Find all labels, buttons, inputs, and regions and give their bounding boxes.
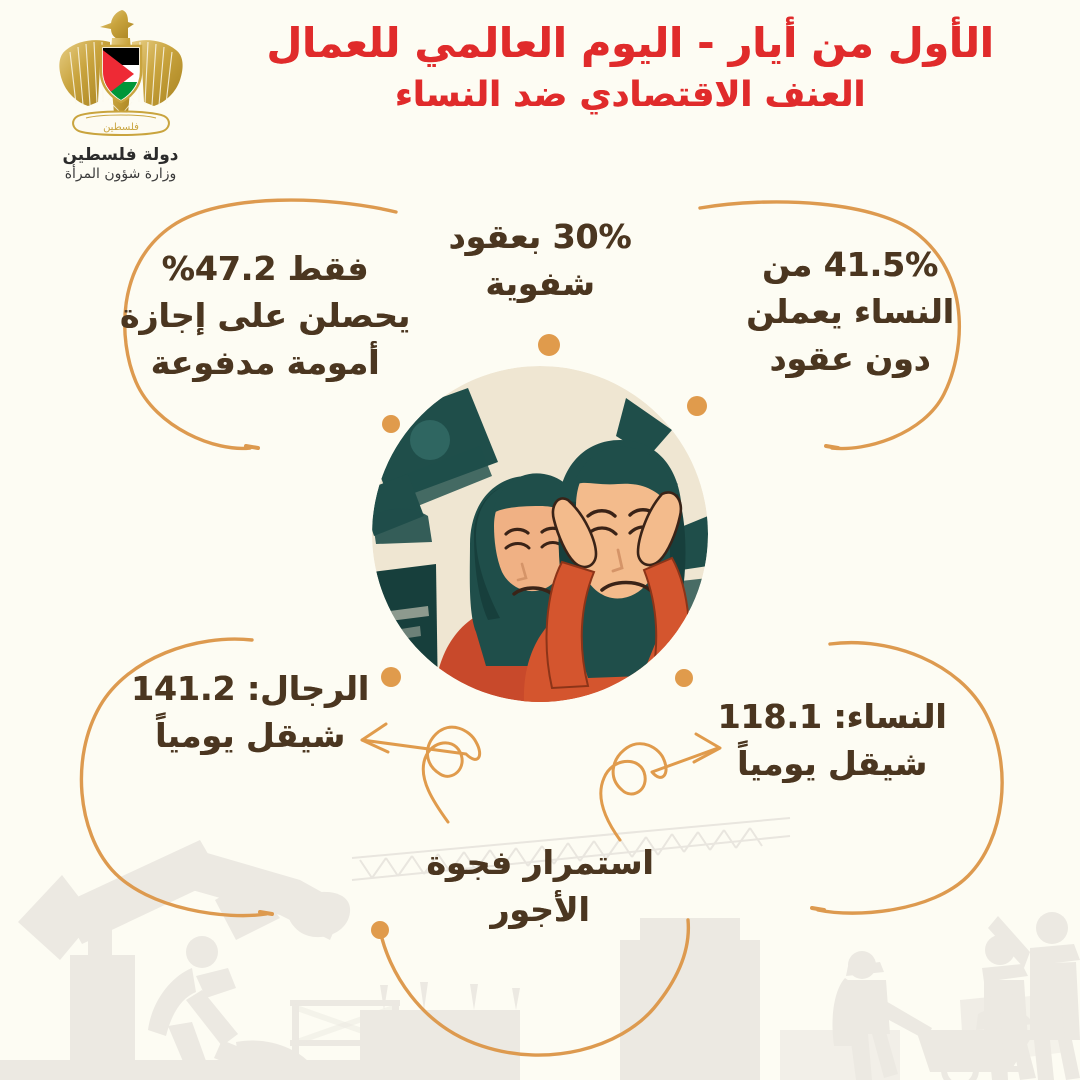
stat-no-contracts: 41.5% من النساء يعملن دون عقود — [700, 242, 1000, 383]
stat-wage-gap: استمرار فجوة الأجور — [390, 840, 690, 934]
palestine-eagle-emblem-icon: فلسطين — [56, 6, 186, 142]
stat-oral-contracts: 30% بعقود شفوية — [395, 214, 685, 308]
stat-women-daily-wage: النساء: 118.1 شيقل يومياً — [682, 694, 982, 788]
stat-paid-maternity-leave: فقط 47.2% يحصلن على إجازة أمومة مدفوعة — [100, 246, 430, 387]
ministry-logo-block: فلسطين دولة فلسطين وزارة شؤون المرأة — [28, 6, 213, 182]
header: فلسطين دولة فلسطين وزارة شؤون المرأة الأ… — [0, 0, 1080, 200]
stat-men-daily-wage: الرجال: 141.2 شيقل يومياً — [100, 666, 400, 760]
page-title: الأول من أيار - اليوم العالمي للعمال — [200, 18, 1060, 69]
org-name-line-2: وزارة شؤون المرأة — [28, 166, 213, 182]
title-block: الأول من أيار - اليوم العالمي للعمال الع… — [200, 18, 1060, 119]
org-name-line-1: دولة فلسطين — [28, 146, 213, 166]
page-subtitle: العنف الاقتصادي ضد النساء — [200, 73, 1060, 119]
svg-text:فلسطين: فلسطين — [103, 122, 139, 133]
infographic-canvas: فلسطين دولة فلسطين وزارة شؤون المرأة الأ… — [0, 0, 1080, 1080]
